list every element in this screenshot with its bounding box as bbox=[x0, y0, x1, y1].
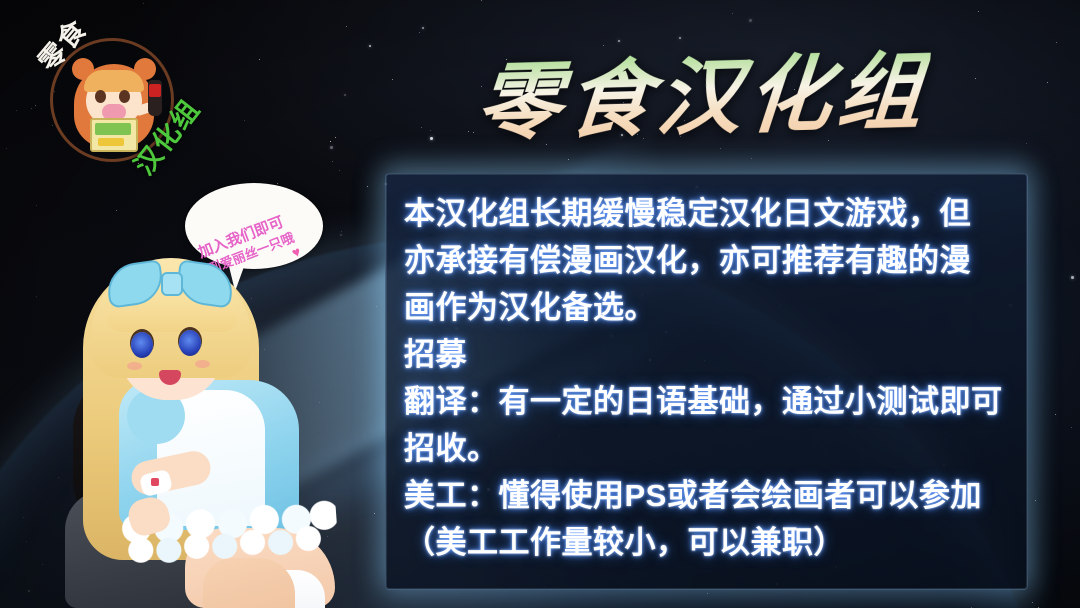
star bbox=[332, 161, 333, 162]
star bbox=[346, 26, 347, 27]
star bbox=[339, 170, 340, 171]
star bbox=[481, 0, 482, 1]
mascot-eye-right bbox=[119, 90, 130, 103]
star bbox=[1047, 82, 1048, 83]
girl-hair-bow bbox=[107, 260, 235, 308]
star bbox=[392, 79, 393, 80]
star bbox=[1056, 42, 1057, 43]
bow-knot bbox=[161, 272, 183, 296]
info-panel-line: 亦承接有偿漫画汉化，亦可推荐有趣的漫 bbox=[404, 237, 1014, 284]
snack-bag-stripe bbox=[95, 123, 131, 135]
star bbox=[259, 59, 260, 60]
info-panel-line: 美工：懂得使用PS或者会绘画者可以参加 bbox=[404, 472, 1014, 519]
star bbox=[971, 607, 972, 608]
girl-wristband-charm bbox=[151, 478, 159, 486]
large-hand bbox=[203, 558, 295, 608]
star bbox=[430, 137, 433, 140]
character-illustration bbox=[35, 240, 365, 608]
star bbox=[751, 158, 752, 159]
girl-blush-left bbox=[127, 362, 142, 370]
star bbox=[468, 131, 469, 132]
star bbox=[23, 517, 24, 518]
star bbox=[26, 541, 27, 542]
star bbox=[421, 127, 422, 128]
info-panel-line: 本汉化组长期缓慢稳定汉化日文游戏，但 bbox=[404, 190, 1014, 237]
star bbox=[1071, 427, 1072, 428]
star bbox=[419, 32, 420, 33]
star bbox=[277, 183, 278, 184]
mascot-eye-left bbox=[95, 90, 106, 103]
star bbox=[344, 94, 346, 96]
star bbox=[330, 141, 331, 142]
star bbox=[143, 3, 144, 4]
girl-eye-right bbox=[179, 330, 201, 356]
star bbox=[36, 205, 37, 206]
snack-bag-stripe-2 bbox=[98, 138, 124, 146]
info-panel-line: 招募 bbox=[404, 331, 1014, 378]
star bbox=[422, 27, 424, 29]
star bbox=[374, 513, 375, 514]
star bbox=[28, 590, 30, 592]
star bbox=[1032, 602, 1033, 603]
bow-loop-left bbox=[104, 259, 165, 308]
star bbox=[568, 159, 569, 160]
cola-bottle-label bbox=[149, 84, 161, 97]
star bbox=[335, 137, 336, 138]
group-logo-badge: 零食 汉化组 bbox=[18, 16, 218, 196]
star bbox=[732, 13, 733, 14]
star bbox=[244, 120, 245, 121]
info-panel-line: （美工工作量较小，可以兼职） bbox=[404, 519, 1014, 566]
info-panel-line: 翻译：有一定的日语基础，通过小测试即可 bbox=[404, 378, 1014, 425]
star bbox=[340, 234, 342, 236]
star bbox=[369, 45, 371, 47]
bow-loop-right bbox=[174, 259, 235, 308]
star bbox=[330, 146, 333, 149]
star bbox=[1071, 276, 1074, 279]
info-panel-line: 画作为汉化备选。 bbox=[404, 284, 1014, 331]
star bbox=[367, 186, 368, 187]
star bbox=[341, 231, 342, 232]
star bbox=[978, 11, 979, 12]
info-panel-text: 本汉化组长期缓慢稳定汉化日文游戏，但亦承接有偿漫画汉化，亦可推荐有趣的漫画作为汉… bbox=[404, 190, 1014, 566]
star bbox=[1035, 500, 1036, 501]
star bbox=[975, 78, 976, 79]
star bbox=[749, 19, 752, 22]
star bbox=[12, 498, 13, 499]
star bbox=[707, 593, 708, 594]
star bbox=[1055, 414, 1056, 415]
mascot-hair bbox=[84, 70, 144, 92]
star bbox=[376, 306, 377, 307]
page-title: 零食汉化组 bbox=[473, 24, 934, 157]
star bbox=[116, 210, 117, 211]
girl-blush-right bbox=[195, 360, 210, 368]
star bbox=[6, 148, 7, 149]
girl-eye-left bbox=[131, 332, 153, 358]
info-panel-line: 招收。 bbox=[404, 425, 1014, 472]
star bbox=[1026, 143, 1027, 144]
star bbox=[16, 110, 17, 111]
poster-canvas: 零食 汉化组 加入我们即可 得到爱丽丝一只哦 ♥ bbox=[0, 0, 1080, 608]
star bbox=[430, 130, 431, 131]
